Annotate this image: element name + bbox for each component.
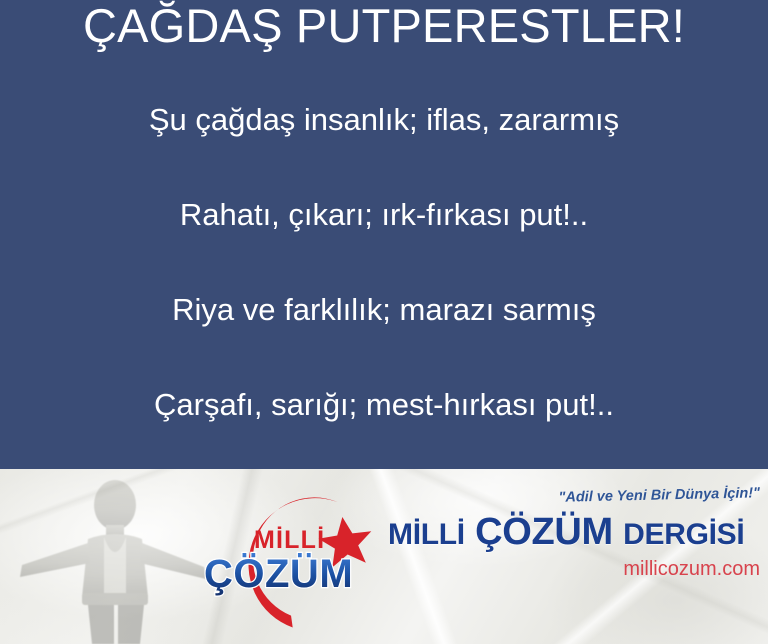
magazine-title: MİLLİ ÇÖZÜM DERGİSİ	[388, 509, 760, 558]
magazine-title-dergisi: DERGİSİ	[623, 518, 744, 551]
poster-text-panel: ÇAĞDAŞ PUTPERESTLER! Şu çağdaş insanlık;…	[0, 0, 768, 469]
verse-line-1: Şu çağdaş insanlık; iflas, zararmış	[0, 100, 768, 140]
magazine-website-url: millicozum.com	[518, 557, 760, 581]
poster-image: ÇAĞDAŞ PUTPERESTLER! Şu çağdaş insanlık;…	[0, 0, 768, 644]
magazine-title-cozum: ÇÖZÜM	[475, 511, 613, 553]
magazine-title-milli: MİLLİ	[388, 518, 465, 551]
page-title: ÇAĞDAŞ PUTPERESTLER!	[0, 0, 768, 56]
magazine-banner: MİLLİ ÇÖZÜM "Adil ve Yeni Bir Dünya İçin…	[0, 469, 768, 644]
verse-block: Şu çağdaş insanlık; iflas, zararmış Raha…	[0, 100, 768, 425]
magazine-wordmark: "Adil ve Yeni Bir Dünya İçin!" MİLLİ ÇÖZ…	[388, 487, 760, 627]
verse-line-2: Rahatı, çıkarı; ırk-fırkası put!..	[0, 195, 768, 235]
milli-cozum-emblem: MİLLİ ÇÖZÜM	[196, 469, 396, 644]
verse-line-4: Çarşafı, sarığı; mest-hırkası put!..	[0, 385, 768, 425]
verse-line-3: Riya ve farklılık; marazı sarmış	[0, 290, 768, 330]
faded-photo-figure	[18, 469, 214, 644]
emblem-milli-text: MİLLİ	[254, 526, 325, 554]
magazine-tagline: "Adil ve Yeni Bir Dünya İçin!"	[516, 484, 760, 508]
emblem-cozum-text: ÇÖZÜM	[204, 551, 353, 596]
